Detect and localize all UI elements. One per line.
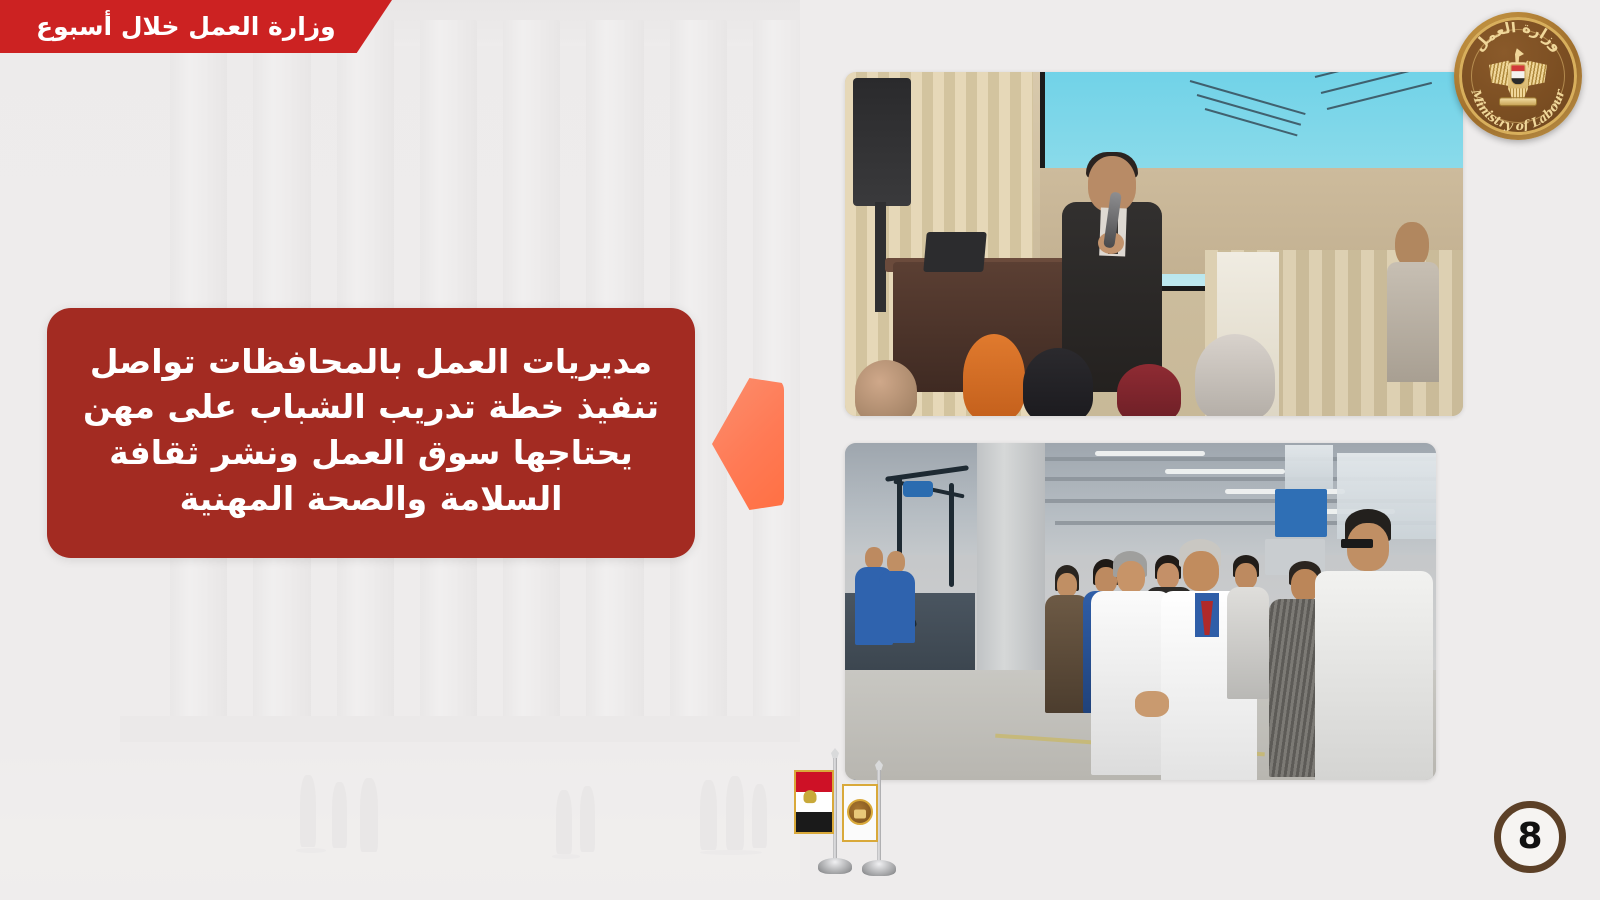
photo-top [845,72,1463,416]
headline-card: مديريات العمل بالمحافظات تواصل تنفيذ خطة… [47,308,695,558]
egypt-flag [794,770,834,834]
header-banner: وزارة العمل خلال أسبوع [0,0,392,53]
ministry-logo: وزارة العمل Ministry of Labour [1454,12,1582,140]
headline-text: مديريات العمل بالمحافظات تواصل تنفيذ خطة… [73,339,669,521]
slide: وزارة العمل خلال أسبوع مديريات العمل بال… [0,0,1600,900]
page-number: 8 [1517,819,1542,855]
header-banner-title: وزارة العمل خلال أسبوع [36,14,336,39]
photo-bottom [845,443,1436,780]
desk-flags [790,742,900,882]
page-number-badge: 8 [1494,801,1566,873]
eagle-of-saladin-icon [1487,46,1549,108]
ministry-flag [842,784,878,842]
